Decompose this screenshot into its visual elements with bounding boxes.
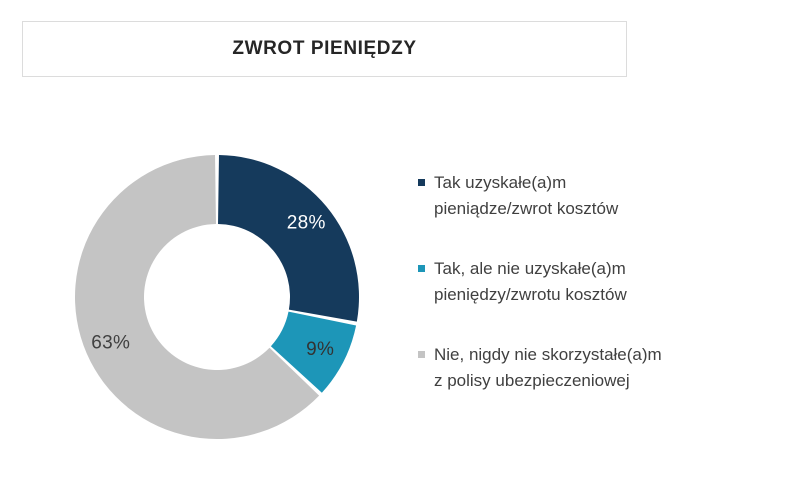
donut-chart: 28%9%63% <box>62 142 372 454</box>
legend-marker-icon <box>418 179 425 186</box>
legend-item-label: Nie, nigdy nie skorzystałe(a)m z polisy … <box>434 342 662 394</box>
legend-item-label: Tak uzyskałe(a)m pieniądze/zwrot kosztów <box>434 170 618 222</box>
legend-item[interactable]: Tak, ale nie uzyskałe(a)m pieniędzy/zwro… <box>418 256 778 308</box>
legend-item-label: Tak, ale nie uzyskałe(a)m pieniędzy/zwro… <box>434 256 627 308</box>
donut-slice-label: 63% <box>91 332 130 353</box>
chart-legend: Tak uzyskałe(a)m pieniądze/zwrot kosztów… <box>418 170 778 394</box>
legend-marker-icon <box>418 265 425 272</box>
legend-item[interactable]: Nie, nigdy nie skorzystałe(a)m z polisy … <box>418 342 778 394</box>
legend-marker-icon <box>418 351 425 358</box>
legend-item[interactable]: Tak uzyskałe(a)m pieniądze/zwrot kosztów <box>418 170 778 222</box>
donut-chart-svg: 28%9%63% <box>62 142 372 454</box>
donut-slices <box>75 155 359 439</box>
page-title: ZWROT PIENIĘDZY <box>232 38 416 60</box>
donut-slice-label: 28% <box>287 213 326 234</box>
chart-title-box: ZWROT PIENIĘDZY <box>22 21 627 77</box>
donut-slice-label: 9% <box>306 339 334 360</box>
donut-slice[interactable] <box>218 155 359 322</box>
